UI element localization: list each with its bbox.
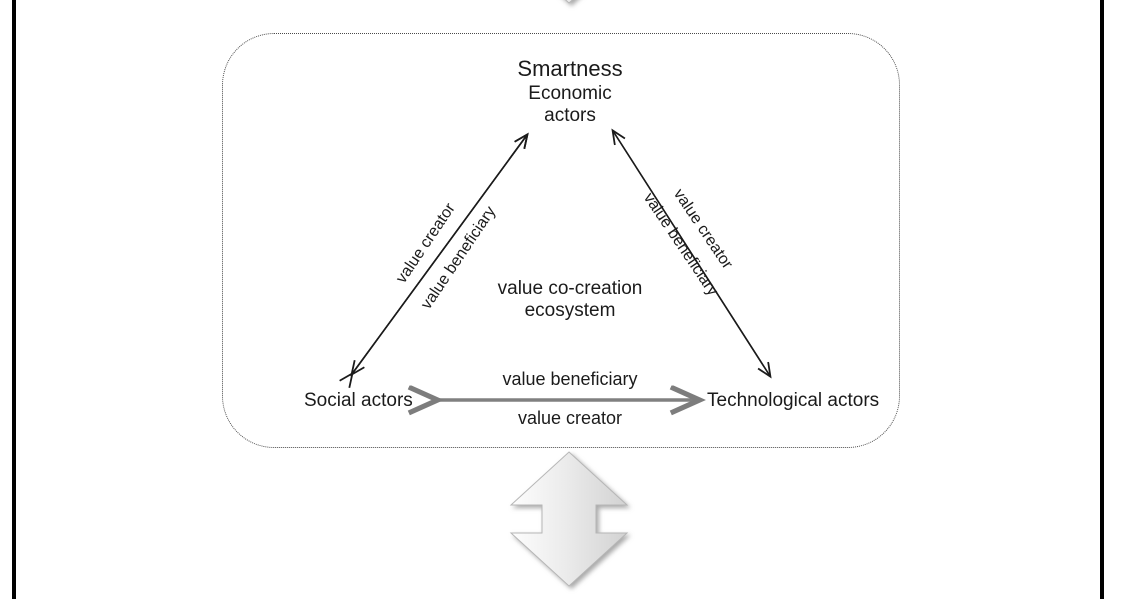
bottom-edge-label-value-creator: value creator <box>0 408 1140 429</box>
node-smartness-heading: Smartness <box>0 56 1140 82</box>
center-label-value-co-creation-ecosystem: value co-creation ecosystem <box>0 278 1140 323</box>
node-economic-actors-line2: actors <box>0 105 1140 127</box>
node-economic-actors-line1: Economic <box>528 83 611 104</box>
node-economic-actors: Economic actors <box>0 83 1140 128</box>
bottom-block-arrow <box>511 452 627 586</box>
center-label-line1: value co-creation <box>498 278 643 299</box>
figure-canvas: Smartness Economic actors value co-creat… <box>0 0 1140 599</box>
top-block-arrow <box>511 0 627 3</box>
bottom-edge-label-value-beneficiary: value beneficiary <box>0 369 1140 390</box>
center-label-line2: ecosystem <box>0 300 1140 322</box>
